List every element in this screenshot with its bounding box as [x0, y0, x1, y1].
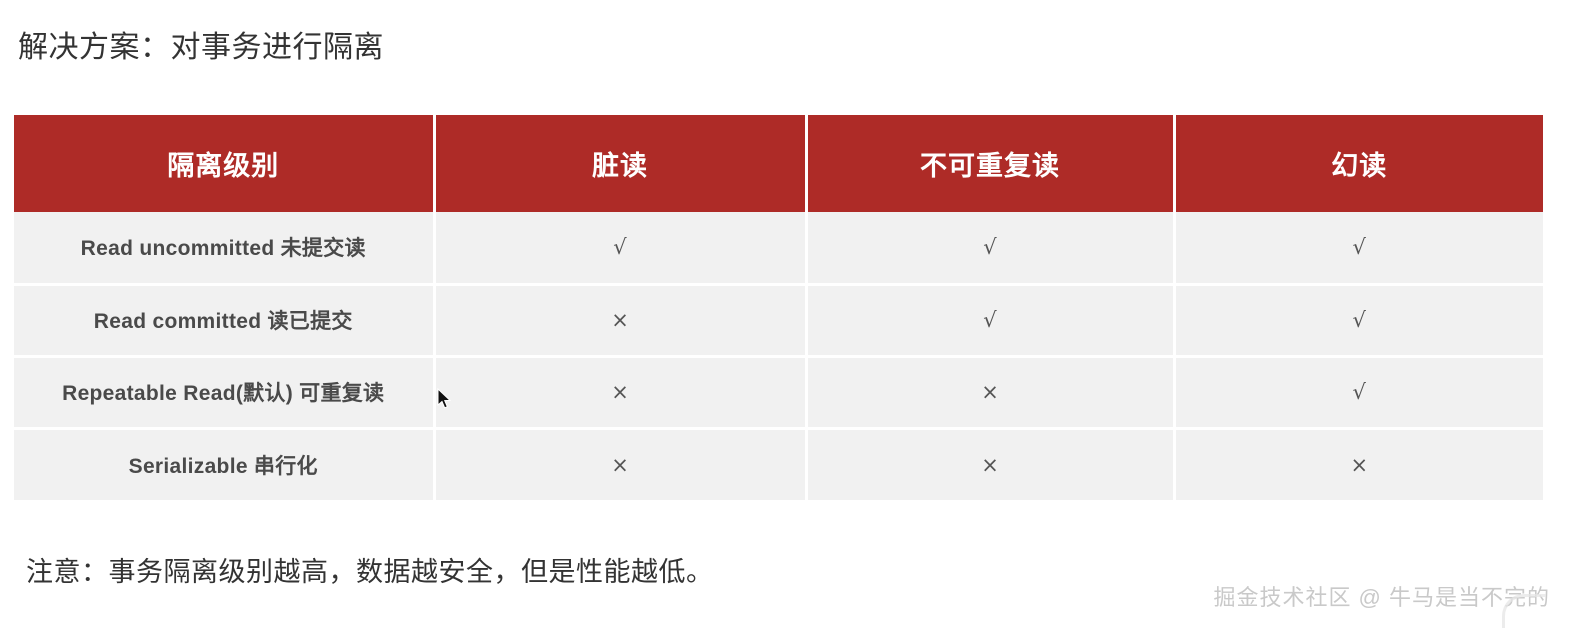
cell-level: Read uncommitted 未提交读 [14, 212, 434, 284]
table-header: 隔离级别 脏读 不可重复读 幻读 [14, 115, 1543, 212]
table-header-row: 隔离级别 脏读 不可重复读 幻读 [14, 115, 1543, 212]
cell-dirty-read: × [434, 284, 806, 356]
column-header-level: 隔离级别 [14, 115, 434, 212]
table-row: Read uncommitted 未提交读 √ √ √ [14, 212, 1543, 284]
cell-non-repeatable-read: √ [806, 212, 1174, 284]
column-header-dirty-read: 脏读 [434, 115, 806, 212]
isolation-levels-table: 隔离级别 脏读 不可重复读 幻读 Read uncommitted 未提交读 √… [14, 115, 1543, 500]
cell-dirty-read: × [434, 428, 806, 500]
table-row: Read committed 读已提交 × √ √ [14, 284, 1543, 356]
column-header-non-repeatable-read: 不可重复读 [806, 115, 1174, 212]
cell-phantom-read: × [1174, 428, 1543, 500]
page-title: 解决方案：对事务进行隔离 [18, 22, 384, 66]
column-header-phantom-read: 幻读 [1174, 115, 1543, 212]
cell-non-repeatable-read: × [806, 428, 1174, 500]
watermark: 掘金技术社区 @ 牛马是当不完的 [1213, 580, 1550, 612]
note-text: 注意：事务隔离级别越高，数据越安全，但是性能越低。 [26, 550, 714, 589]
table-row: Repeatable Read(默认) 可重复读 × × √ [14, 356, 1543, 428]
cell-level: Repeatable Read(默认) 可重复读 [14, 356, 434, 428]
cell-level: Serializable 串行化 [14, 428, 434, 500]
cell-non-repeatable-read: × [806, 356, 1174, 428]
table-body: Read uncommitted 未提交读 √ √ √ Read committ… [14, 212, 1543, 500]
cell-phantom-read: √ [1174, 212, 1543, 284]
table-row: Serializable 串行化 × × × [14, 428, 1543, 500]
cell-level: Read committed 读已提交 [14, 284, 434, 356]
watermark-logo-icon [1502, 594, 1546, 628]
watermark-text: 掘金技术社区 @ 牛马是当不完的 [1213, 585, 1550, 610]
cell-non-repeatable-read: √ [806, 284, 1174, 356]
cell-dirty-read: × [434, 356, 806, 428]
cell-dirty-read: √ [434, 212, 806, 284]
cell-phantom-read: √ [1174, 284, 1543, 356]
cell-phantom-read: √ [1174, 356, 1543, 428]
